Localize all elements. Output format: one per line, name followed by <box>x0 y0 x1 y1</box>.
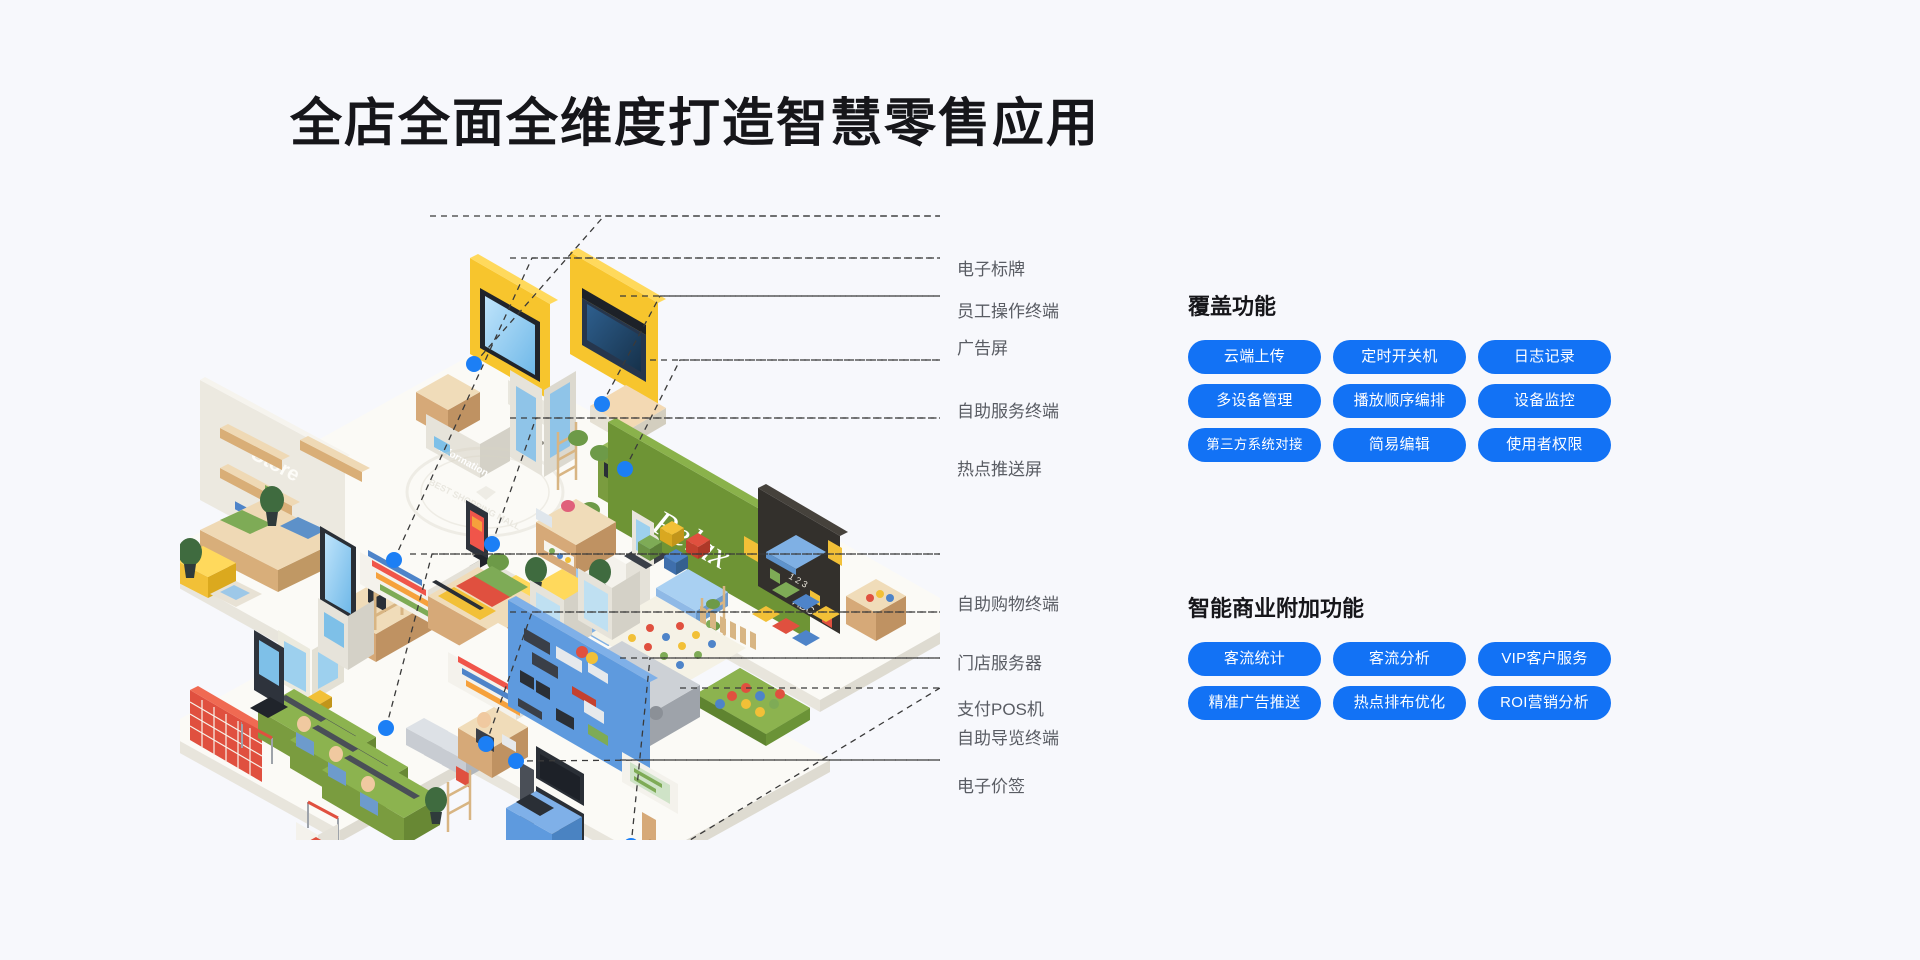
marker-dot <box>466 356 482 372</box>
addon-chip-traffic-analysis[interactable]: 客流分析 <box>1333 642 1466 676</box>
callout-label-9: 电子价签 <box>957 778 1025 795</box>
addon-chip-traffic-stats[interactable]: 客流统计 <box>1188 642 1321 676</box>
marker-dot <box>386 552 402 568</box>
callout-label-1: 员工操作终端 <box>957 303 1059 320</box>
page-title: 全店全面全维度打造智慧零售应用 <box>0 93 1390 155</box>
feature-chip-multi-device[interactable]: 多设备管理 <box>1188 384 1321 418</box>
addon-chip-precise-ads[interactable]: 精准广告推送 <box>1188 686 1321 720</box>
marker-dot <box>594 396 610 412</box>
feature-chip-play-sequence[interactable]: 播放顺序编排 <box>1333 384 1466 418</box>
feature-chip-log-record[interactable]: 日志记录 <box>1478 340 1611 374</box>
addon-chip-hotspot-layout[interactable]: 热点排布优化 <box>1333 686 1466 720</box>
feature-chip-third-party[interactable]: 第三方系统对接 <box>1188 428 1321 462</box>
callout-label-5: 自助购物终端 <box>957 596 1059 613</box>
addon-chip-vip-service[interactable]: VIP客户服务 <box>1478 642 1611 676</box>
marker-dot <box>478 736 494 752</box>
callout-label-0: 电子标牌 <box>957 261 1025 278</box>
smart-business-addon-title: 智能商业附加功能 <box>1188 598 1648 620</box>
page-root: 全店全面全维度打造智慧零售应用 <box>0 0 1920 960</box>
coverage-features-chip-grid: 云端上传 定时开关机 日志记录 多设备管理 播放顺序编排 设备监控 第三方系统对… <box>1188 340 1618 462</box>
feature-chip-device-monitor[interactable]: 设备监控 <box>1478 384 1611 418</box>
coverage-features-title: 覆盖功能 <box>1188 296 1648 318</box>
marker-dot <box>378 720 394 736</box>
callout-label-3: 自助服务终端 <box>957 403 1059 420</box>
marker-dot <box>508 753 524 769</box>
callout-label-2: 广告屏 <box>957 340 1008 357</box>
callout-label-4: 热点推送屏 <box>957 461 1042 478</box>
feature-chip-simple-edit[interactable]: 简易编辑 <box>1333 428 1466 462</box>
callout-label-8: 自助导览终端 <box>957 730 1059 747</box>
marker-dot <box>484 536 500 552</box>
marker-dot <box>617 461 633 477</box>
callout-label-7: 支付POS机 <box>957 701 1044 718</box>
addon-chip-roi-analysis[interactable]: ROI营销分析 <box>1478 686 1611 720</box>
smart-business-addon-panel: 智能商业附加功能 客流统计 客流分析 VIP客户服务 精准广告推送 热点排布优化… <box>1188 598 1648 720</box>
feature-chip-user-permission[interactable]: 使用者权限 <box>1478 428 1611 462</box>
callout-label-6: 门店服务器 <box>957 655 1042 672</box>
feature-chip-cloud-upload[interactable]: 云端上传 <box>1188 340 1321 374</box>
isometric-retail-illustration: Store <box>180 200 940 840</box>
feature-chip-scheduled-power[interactable]: 定时开关机 <box>1333 340 1466 374</box>
coverage-features-panel: 覆盖功能 云端上传 定时开关机 日志记录 多设备管理 播放顺序编排 设备监控 第… <box>1188 296 1648 462</box>
smart-business-addon-chip-grid: 客流统计 客流分析 VIP客户服务 精准广告推送 热点排布优化 ROI营销分析 <box>1188 642 1618 720</box>
